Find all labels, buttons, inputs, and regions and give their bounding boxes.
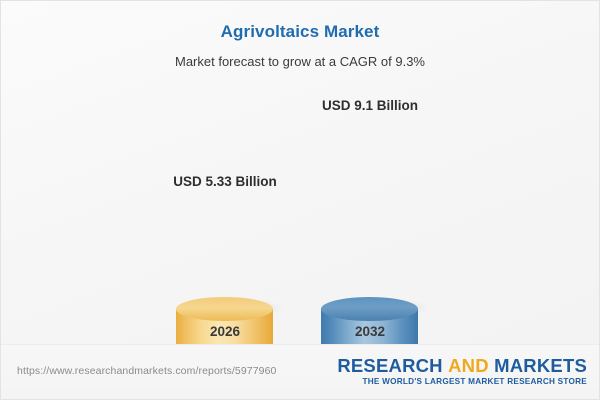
footer-bar: https://www.researchandmarkets.com/repor… <box>1 344 600 399</box>
research-and-markets-logo[interactable]: RESEARCH AND MARKETS THE WORLD'S LARGEST… <box>337 356 587 386</box>
bar-value-label-2026: USD 5.33 Billion <box>120 174 330 189</box>
cylinder-top-cap-2026 <box>176 297 273 321</box>
logo-tagline: THE WORLD'S LARGEST MARKET RESEARCH STOR… <box>337 377 587 386</box>
cylinder-top-cap-2032 <box>321 297 418 321</box>
logo-wordmark: RESEARCH AND MARKETS <box>337 356 587 375</box>
logo-word-research: RESEARCH <box>337 355 442 376</box>
category-label-2026: 2026 <box>145 324 305 339</box>
category-label-2032: 2032 <box>290 324 450 339</box>
logo-word-and: AND <box>448 355 489 376</box>
bar-value-label-2032: USD 9.1 Billion <box>265 98 475 113</box>
report-url-link[interactable]: https://www.researchandmarkets.com/repor… <box>17 365 276 377</box>
logo-word-markets: MARKETS <box>494 355 587 376</box>
infographic-card: Agrivoltaics Market Market forecast to g… <box>0 0 600 400</box>
chart-plot-area: USD 5.33 Billion 2026 USD 9.1 Billion 20… <box>1 1 600 346</box>
